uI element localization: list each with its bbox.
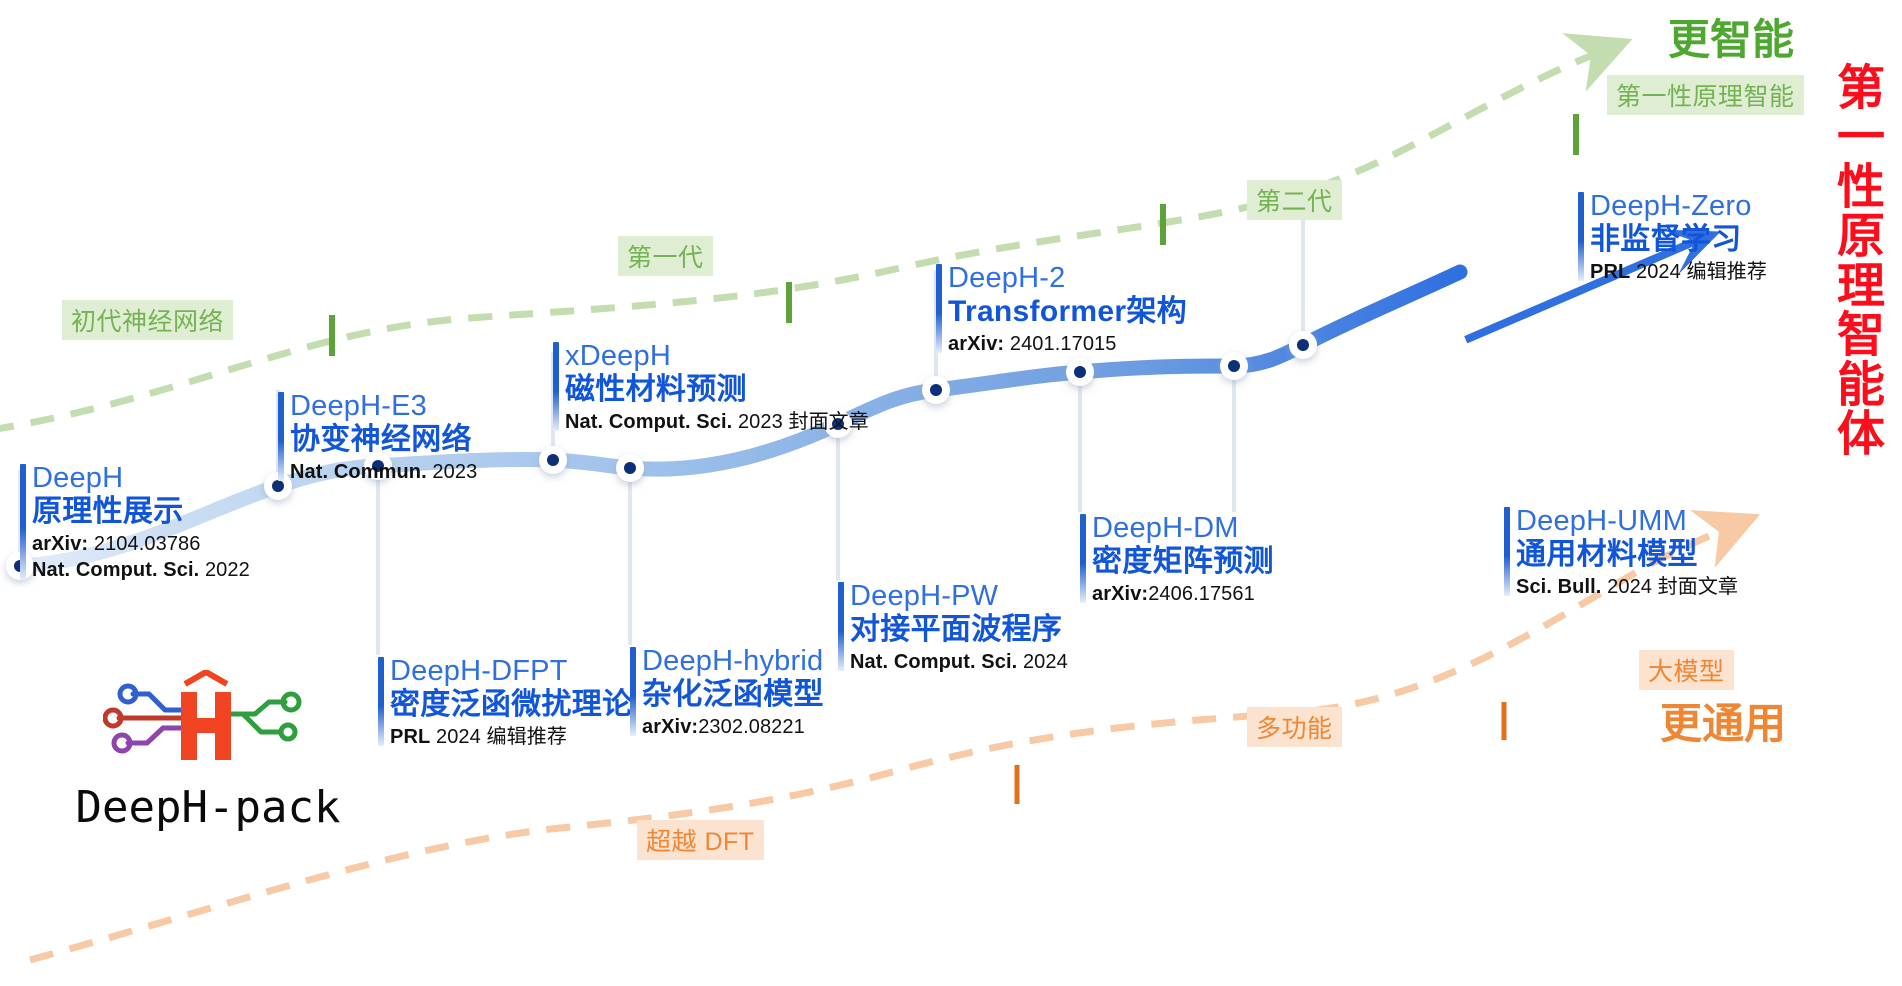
reference-detail: 2406.17561 bbox=[1148, 583, 1255, 605]
milestone-reference: arXiv: 2104.03786 bbox=[32, 533, 250, 555]
reference-source: arXiv: bbox=[32, 533, 88, 555]
milestone-reference: Nat. Comput. Sci. 2023 封面文章 bbox=[565, 411, 869, 433]
reference-detail: 2401.17015 bbox=[1004, 333, 1116, 355]
milestone-reference: Nat. Comput. Sci. 2022 bbox=[32, 559, 250, 581]
milestone-name: DeepH-PW bbox=[850, 580, 1068, 612]
milestone-subtitle: 通用材料模型 bbox=[1516, 538, 1738, 572]
reference-source: arXiv: bbox=[948, 333, 1004, 355]
milestone-name: DeepH-Zero bbox=[1590, 190, 1767, 222]
milestone-subtitle: 密度矩阵预测 bbox=[1092, 545, 1274, 579]
milestone-subtitle: 密度泛函微扰理论 bbox=[390, 688, 632, 722]
milestone-accent-bar bbox=[630, 647, 636, 736]
node-deeph-dm[interactable] bbox=[1074, 366, 1086, 378]
milestone-reference: Nat. Commun. 2023 bbox=[290, 461, 477, 483]
milestone-name: DeepH-2 bbox=[948, 262, 1187, 294]
milestone-name: DeepH-hybrid bbox=[642, 645, 824, 677]
reference-source: Sci. Bull. bbox=[1516, 576, 1601, 598]
chip-lower-0: 超越 DFT bbox=[637, 820, 764, 860]
reference-source: Nat. Comput. Sci. bbox=[850, 651, 1017, 673]
page-title-char-0: 第 bbox=[1828, 64, 1894, 113]
roadmap-canvas bbox=[0, 0, 1902, 986]
milestone-name: DeepH-DFPT bbox=[390, 655, 632, 687]
node-deeph-hybrid[interactable] bbox=[624, 462, 636, 474]
page-title-char-6: 能 bbox=[1828, 361, 1894, 410]
reference-detail: 2023 bbox=[427, 461, 478, 483]
reference-detail: 2024 编辑推荐 bbox=[1630, 261, 1767, 283]
milestone-accent-bar bbox=[1578, 192, 1584, 281]
reference-source: Nat. Comput. Sci. bbox=[32, 559, 199, 581]
milestone-accent-bar bbox=[838, 582, 844, 671]
milestone-name: DeepH bbox=[32, 462, 250, 494]
chip-upper-1: 第一代 bbox=[618, 236, 713, 276]
milestone-reference: Sci. Bull. 2024 封面文章 bbox=[1516, 576, 1738, 598]
roadmap-figure: 更智能 初代神经网络 第一代 第二代 第一性原理智能 更通用 超越 DFT 多功… bbox=[0, 0, 1902, 986]
page-title: 第一性原理智能体 bbox=[1828, 64, 1894, 460]
page-title-char-3: 原 bbox=[1828, 212, 1894, 261]
milestone-deeph-umm[interactable]: DeepH-UMM 通用材料模型 Sci. Bull. 2024 封面文章 bbox=[1504, 505, 1738, 598]
reference-detail: 2104.03786 bbox=[88, 533, 200, 555]
page-title-char-1: 一 bbox=[1828, 113, 1894, 162]
milestone-reference: PRL 2024 编辑推荐 bbox=[390, 726, 632, 748]
reference-source: Nat. Comput. Sci. bbox=[565, 411, 732, 433]
milestone-deeph-dfpt[interactable]: DeepH-DFPT 密度泛函微扰理论 PRL 2024 编辑推荐 bbox=[378, 655, 632, 748]
milestone-reference: arXiv: 2401.17015 bbox=[948, 333, 1187, 355]
reference-source: PRL bbox=[390, 726, 430, 748]
milestone-deeph-zero[interactable]: DeepH-Zero 非监督学习 PRL 2024 编辑推荐 bbox=[1578, 190, 1767, 283]
lower-axis-end-label: 更通用 bbox=[1660, 690, 1786, 751]
milestone-accent-bar bbox=[553, 342, 559, 431]
page-title-char-7: 体 bbox=[1828, 410, 1894, 459]
milestone-accent-bar bbox=[378, 657, 384, 746]
milestone-deeph[interactable]: DeepH 原理性展示 arXiv: 2104.03786 Nat. Compu… bbox=[20, 462, 250, 582]
milestone-reference: PRL 2024 编辑推荐 bbox=[1590, 261, 1767, 283]
milestone-deeph-pw[interactable]: DeepH-PW 对接平面波程序 Nat. Comput. Sci. 2024 bbox=[838, 580, 1068, 673]
reference-source: arXiv: bbox=[642, 716, 698, 738]
milestone-accent-bar bbox=[1504, 507, 1510, 596]
reference-source: PRL bbox=[1590, 261, 1630, 283]
milestone-subtitle: 协变神经网络 bbox=[290, 423, 477, 457]
milestone-deeph-2[interactable]: DeepH-2 Transformer架构 arXiv: 2401.17015 bbox=[936, 262, 1187, 355]
milestone-accent-bar bbox=[20, 464, 26, 580]
node-xdeeph[interactable] bbox=[547, 454, 559, 466]
deeph-pack-logo: DeepH-pack bbox=[58, 670, 358, 833]
chip-lower-2: 大模型 bbox=[1639, 650, 1734, 690]
milestone-name: xDeepH bbox=[565, 340, 869, 372]
milestone-deeph-dm[interactable]: DeepH-DM 密度矩阵预测 arXiv:2406.17561 bbox=[1080, 512, 1274, 605]
milestone-xdeeph[interactable]: xDeepH 磁性材料预测 Nat. Comput. Sci. 2023 封面文… bbox=[553, 340, 869, 433]
reference-detail: 2024 bbox=[1017, 651, 1068, 673]
milestone-subtitle: 原理性展示 bbox=[32, 495, 250, 529]
milestone-accent-bar bbox=[278, 392, 284, 481]
milestone-accent-bar bbox=[1080, 514, 1086, 603]
reference-source: Nat. Commun. bbox=[290, 461, 427, 483]
logo-wordmark: DeepH-pack bbox=[58, 782, 358, 833]
deeph-circuit-h-icon bbox=[103, 670, 313, 780]
milestone-name: DeepH-E3 bbox=[290, 390, 477, 422]
reference-detail: 2024 封面文章 bbox=[1601, 576, 1738, 598]
milestone-deeph-e3[interactable]: DeepH-E3 协变神经网络 Nat. Commun. 2023 bbox=[278, 390, 477, 483]
chip-lower-1: 多功能 bbox=[1247, 707, 1342, 747]
milestone-reference: arXiv:2302.08221 bbox=[642, 716, 824, 738]
chip-upper-2: 第二代 bbox=[1247, 180, 1342, 220]
page-title-char-4: 理 bbox=[1828, 262, 1894, 311]
milestone-name: DeepH-UMM bbox=[1516, 505, 1738, 537]
page-title-char-2: 性 bbox=[1828, 163, 1894, 212]
reference-detail: 2302.08221 bbox=[698, 716, 805, 738]
node-deeph-2[interactable] bbox=[930, 384, 942, 396]
milestone-subtitle: 对接平面波程序 bbox=[850, 613, 1068, 647]
reference-detail: 2023 封面文章 bbox=[732, 411, 869, 433]
node-deeph-zero[interactable] bbox=[1297, 339, 1309, 351]
milestone-reference: Nat. Comput. Sci. 2024 bbox=[850, 651, 1068, 673]
reference-source: arXiv: bbox=[1092, 583, 1148, 605]
upper-axis-end-label: 更智能 bbox=[1668, 6, 1794, 67]
milestone-subtitle: 非监督学习 bbox=[1590, 223, 1767, 257]
milestone-subtitle: 磁性材料预测 bbox=[565, 373, 869, 407]
page-title-char-5: 智 bbox=[1828, 311, 1894, 360]
reference-detail: 2022 bbox=[199, 559, 250, 581]
milestone-name: DeepH-DM bbox=[1092, 512, 1274, 544]
milestone-accent-bar bbox=[936, 264, 942, 353]
chip-upper-0: 初代神经网络 bbox=[62, 300, 233, 340]
reference-detail: 2024 编辑推荐 bbox=[430, 726, 567, 748]
milestone-subtitle: Transformer架构 bbox=[948, 295, 1187, 329]
milestone-deeph-hybrid[interactable]: DeepH-hybrid 杂化泛函模型 arXiv:2302.08221 bbox=[630, 645, 824, 738]
node-deeph-umm[interactable] bbox=[1228, 360, 1240, 372]
milestone-subtitle: 杂化泛函模型 bbox=[642, 678, 824, 712]
milestone-reference: arXiv:2406.17561 bbox=[1092, 583, 1274, 605]
chip-upper-3: 第一性原理智能 bbox=[1607, 75, 1804, 115]
